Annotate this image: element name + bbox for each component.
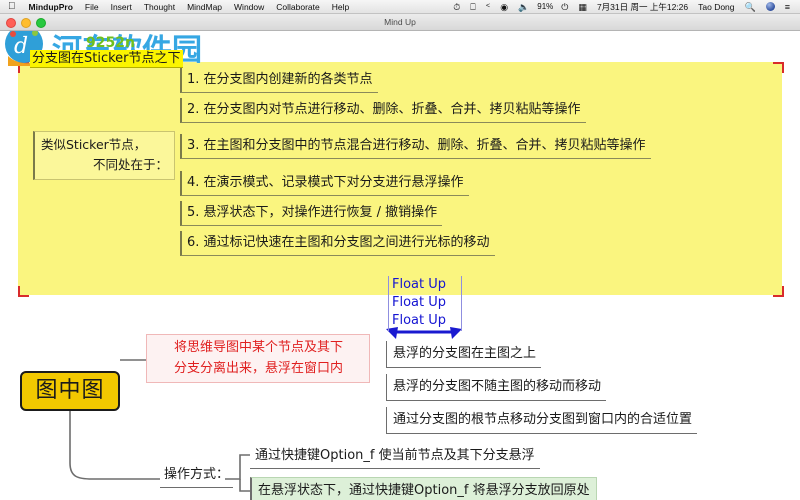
sticker-list-item-3[interactable]: 3. 在主图和分支图中的节点混合进行移动、删除、折叠、合并、拷贝粘贴等操作 <box>180 134 651 159</box>
feature-item-2[interactable]: 悬浮的分支图不随主图的移动而移动 <box>386 374 606 401</box>
how-to-item-2[interactable]: 在悬浮状态下，通过快捷键Option_f 将悬浮分支放回原处 <box>250 477 597 500</box>
volume-icon[interactable]: 🔈 <box>513 0 534 14</box>
time-machine-icon[interactable]: ⏱ <box>448 0 465 14</box>
sticker-list-item-6[interactable]: 6. 通过标记快速在主图和分支图之间进行光标的移动 <box>180 231 495 256</box>
similar-sticker-node[interactable]: 类似Sticker节点， 不同处在于： <box>33 131 175 180</box>
battery-charging-icon[interactable]: ⏻ <box>556 0 573 14</box>
eye-icon[interactable]: ◉ <box>495 0 513 14</box>
airplay-icon[interactable]: ⎕ <box>465 0 480 14</box>
how-to-item-1[interactable]: 通过快捷键Option_f 使当前节点及其下分支悬浮 <box>250 444 540 469</box>
sticker-corner-bottomright <box>773 286 784 297</box>
menu-item-thought[interactable]: Thought <box>138 0 181 14</box>
menu-item-collaborate[interactable]: Collaborate <box>270 0 325 14</box>
watermark-green-text: 9252n <box>86 35 135 51</box>
center-node[interactable]: 图中图 <box>20 371 120 411</box>
sticker-list-item-1[interactable]: 1. 在分支图内创建新的各类节点 <box>180 68 378 93</box>
sticker-title-node[interactable]: 分支图在Sticker节点之下 <box>30 50 183 68</box>
svg-text:d: d <box>14 34 28 59</box>
notification-center-icon[interactable]: ≡ <box>780 0 795 14</box>
sticker-list-item-5[interactable]: 5. 悬浮状态下，对操作进行恢复 / 撤销操作 <box>180 201 442 226</box>
window-title-bar: Mind Up <box>0 14 800 31</box>
feature-item-1[interactable]: 悬浮的分支图在主图之上 <box>386 341 541 368</box>
keyboard-input-icon[interactable]: ▦ <box>573 0 592 14</box>
bluetooth-icon[interactable]: ᑉ <box>481 0 496 14</box>
apple-icon[interactable]:  <box>6 0 23 14</box>
definition-line1: 将思维导图中某个节点及其下 <box>153 337 364 358</box>
menu-item-help[interactable]: Help <box>326 0 355 14</box>
menu-item-insert[interactable]: Insert <box>105 0 138 14</box>
float-up-line-1: Float Up <box>389 276 461 294</box>
definition-line2: 分支分离出来，悬浮在窗口内 <box>153 358 364 379</box>
sticker-corner-bottomleft <box>18 286 29 297</box>
app-window:  MindupPro File Insert Thought MindMap … <box>0 0 800 500</box>
similar-sticker-line2: 不同处在于： <box>41 155 168 175</box>
float-up-stack[interactable]: Float Up Float Up Float Up <box>388 276 462 331</box>
menu-item-file[interactable]: File <box>79 0 105 14</box>
menu-bar-status-area: ⏱ ⎕ ᑉ ◉ 🔈 91% ⏻ ▦ 7月31日 周一 上午12:26 Tao D… <box>448 0 800 14</box>
account-avatar-icon[interactable] <box>761 2 780 11</box>
sticker-corner-topleft <box>18 62 29 73</box>
clock-datetime[interactable]: 7月31日 周一 上午12:26 <box>592 0 693 14</box>
search-icon[interactable]: 🔍 <box>740 0 761 14</box>
menu-bar-left:  MindupPro File Insert Thought MindMap … <box>0 0 355 14</box>
sticker-corner-topright <box>773 62 784 73</box>
battery-percent-label: 91% <box>534 0 556 14</box>
menu-item-window[interactable]: Window <box>228 0 270 14</box>
how-to-label-node[interactable]: 操作方式： <box>160 463 233 488</box>
current-user-label[interactable]: Tao Dong <box>693 0 739 14</box>
mindmap-canvas[interactable]: d 河东软件园 9252n 分支图在Sticker节点之下 类似Sticker节… <box>0 31 800 500</box>
menu-item-mindmap[interactable]: MindMap <box>181 0 228 14</box>
feature-item-3[interactable]: 通过分支图的根节点移动分支图到窗口内的合适位置 <box>386 407 697 434</box>
float-up-line-2: Float Up <box>389 294 461 312</box>
window-title: Mind Up <box>0 14 800 31</box>
sticker-list-item-4[interactable]: 4. 在演示模式、记录模式下对分支进行悬浮操作 <box>180 171 469 196</box>
float-up-line-3: Float Up <box>389 312 461 330</box>
definition-node[interactable]: 将思维导图中某个节点及其下 分支分离出来，悬浮在窗口内 <box>146 334 370 383</box>
similar-sticker-line1: 类似Sticker节点， <box>41 135 168 155</box>
sticker-list-item-2[interactable]: 2. 在分支图内对节点进行移动、删除、折叠、合并、拷贝粘贴等操作 <box>180 98 586 123</box>
menu-item-app[interactable]: MindupPro <box>23 0 79 14</box>
mac-menu-bar:  MindupPro File Insert Thought MindMap … <box>0 0 800 14</box>
